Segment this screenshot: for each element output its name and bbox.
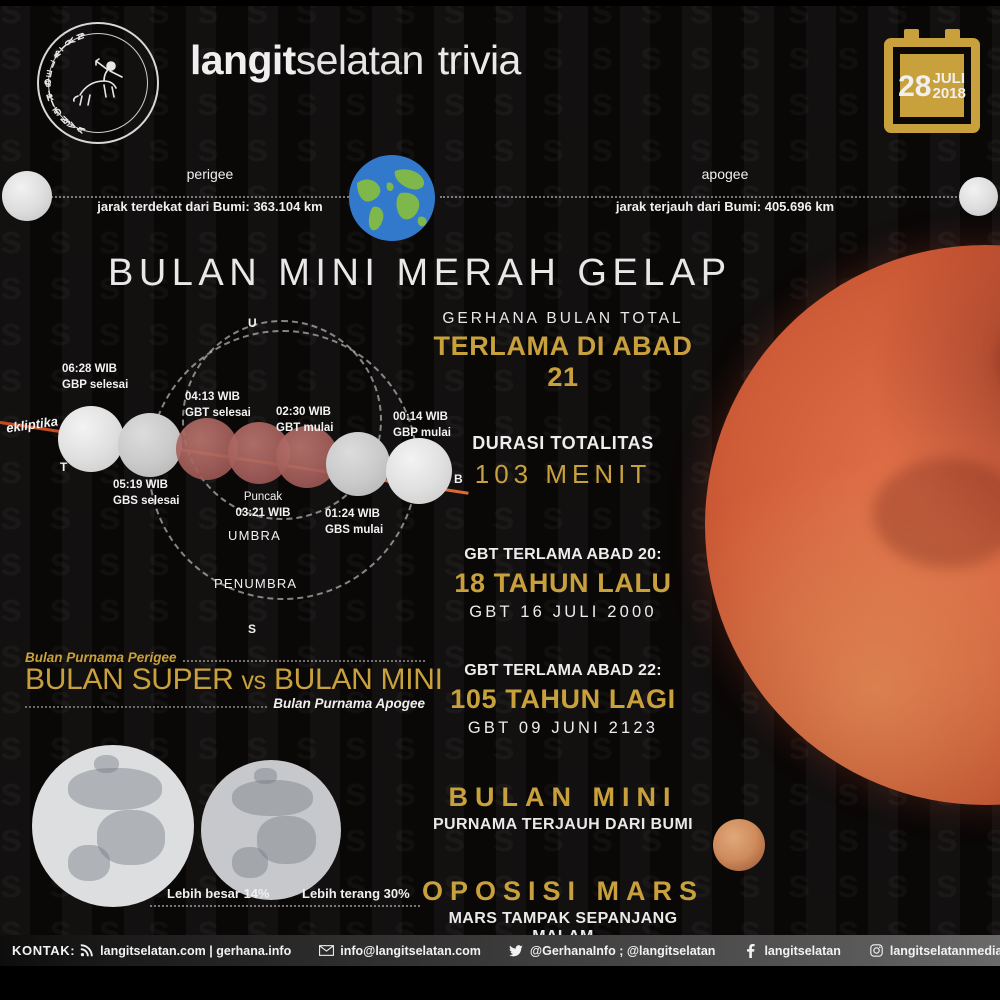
facebook-icon — [743, 943, 758, 958]
label-gbp-selesai-time: 06:28 WIB — [62, 362, 128, 378]
perigee-distance: jarak terdekat dari Bumi: 363.104 km — [85, 199, 335, 214]
perigee-moon-icon — [2, 171, 52, 221]
footer-item-facebook[interactable]: langitselatan — [743, 943, 840, 958]
label-puncak-time: 03:21 WIB — [228, 506, 298, 522]
stat-longest-eclipse: GERHANA BULAN TOTAL TERLAMA DI ABAD 21 — [418, 310, 708, 393]
label-gbs-selesai-time: 05:19 WIB — [113, 478, 179, 494]
sagittarius-figure-icon — [66, 51, 130, 115]
label-gbs-selesai: 05:19 WIB GBS selesai — [113, 478, 179, 509]
dotted-rule-top — [183, 660, 425, 662]
stat-century-22-main: 105 TAHUN LAGI — [418, 684, 708, 715]
phase-moon-gbs-selesai — [118, 413, 182, 477]
footer-item-website-text: langitselatan.com | gerhana.info — [100, 944, 291, 958]
top-black-strip — [0, 0, 1000, 6]
stat-mini-moon-sub: PURNAMA TERJAUH DARI BUMI — [418, 816, 708, 834]
direction-label-north: U — [248, 316, 257, 330]
label-gbt-mulai: 02:30 WIB GBT mulai — [276, 405, 334, 436]
phase-moon-gbs-mulai — [326, 432, 390, 496]
label-puncak: Puncak 03:21 WIB — [228, 490, 298, 521]
stat-century-22: GBT TERLAMA ABAD 22: 105 TAHUN LAGI GBT … — [418, 662, 708, 738]
super-vs-mini-title: BULAN SUPER vs BULAN MINI — [25, 663, 425, 697]
infographic-page: ssssssssssssssssssssssssssssssssssssssss… — [0, 0, 1000, 1000]
rss-icon — [79, 943, 94, 958]
dotted-rule-bottom — [25, 706, 267, 708]
footer-item-twitter-text: @GerhanaInfo ; @langitselatan — [530, 944, 716, 958]
stat-century-20-main: 18 TAHUN LALU — [418, 568, 708, 599]
mars-illustration — [713, 819, 765, 871]
footer-item-website[interactable]: langitselatan.com | gerhana.info — [79, 943, 291, 958]
calendar-screen: 28 JULI 2018 — [893, 47, 971, 124]
footer-item-twitter[interactable]: @GerhanaInfo ; @langitselatan — [509, 943, 716, 958]
orbit-line-right — [440, 196, 965, 198]
label-gbs-selesai-event: GBS selesai — [113, 494, 179, 510]
footer-item-email-text: info@langitselatan.com — [340, 944, 481, 958]
stat-century-20-sub: GBT 16 JULI 2000 — [418, 603, 708, 622]
footer-item-instagram-text: langitselatanmedia — [890, 944, 1000, 958]
footer-item-facebook-text: langitselatan — [764, 944, 840, 958]
brand-bold: langit — [190, 37, 296, 83]
stats-column: GERHANA BULAN TOTAL TERLAMA DI ABAD 21 D… — [418, 310, 708, 946]
blood-moon-illustration — [705, 245, 1000, 805]
stat-mini-moon-main: BULAN MINI — [418, 782, 708, 813]
ecliptic-label: ekliptika — [5, 413, 59, 435]
stat-mars-opposition-main: OPOSISI MARS — [418, 876, 708, 907]
super-vs-mini-title-vs: vs — [241, 667, 265, 695]
zone-label-penumbra: PENUMBRA — [214, 576, 297, 591]
brand-light: selatan — [296, 37, 424, 83]
label-gbt-selesai: 04:13 WIB GBT selesai — [185, 390, 251, 421]
label-gbs-mulai-time: 01:24 WIB — [325, 507, 383, 523]
mini-moon-illustration — [201, 760, 341, 900]
footer-item-instagram[interactable]: langitselatanmedia — [869, 943, 1000, 958]
brand-trivia: trivia — [438, 37, 521, 83]
envelope-icon — [319, 943, 334, 958]
direction-label-east: T — [60, 460, 67, 474]
label-gbt-selesai-time: 04:13 WIB — [185, 390, 251, 406]
apogee-moon-icon — [959, 177, 998, 216]
label-gbt-mulai-event: GBT mulai — [276, 421, 334, 437]
apogee-distance: jarak terjauh dari Bumi: 405.696 km — [600, 199, 850, 214]
perigee-label: perigee — [110, 166, 310, 182]
super-vs-mini-heading: Bulan Purnama Perigee BULAN SUPER vs BUL… — [25, 650, 425, 711]
stat-duration: DURASI TOTALITAS 103 MENIT — [418, 433, 708, 490]
stat-century-22-sub: GBT 09 JUNI 2123 — [418, 719, 708, 738]
stat-duration-top: DURASI TOTALITAS — [418, 433, 708, 454]
label-gbt-selesai-event: GBT selesai — [185, 406, 251, 422]
calendar-year: 2018 — [933, 87, 966, 101]
label-puncak-text: Puncak — [228, 490, 298, 506]
calendar-day: 28 — [898, 74, 931, 100]
date-badge: 28 JULI 2018 — [884, 29, 980, 133]
caption-brightness-difference: Lebih terang 30% — [302, 886, 410, 901]
instagram-icon — [869, 943, 884, 958]
direction-label-south: S — [248, 622, 256, 636]
stat-century-22-top: GBT TERLAMA ABAD 22: — [418, 662, 708, 680]
phase-moon-gbp-selesai — [58, 406, 124, 472]
stat-century-20-top: GBT TERLAMA ABAD 20: — [418, 546, 708, 564]
caption-dotted-rule — [150, 905, 420, 907]
super-vs-mini-bottom-label: Bulan Purnama Apogee — [273, 696, 425, 711]
label-gbp-selesai: 06:28 WIB GBP selesai — [62, 362, 128, 393]
page-title: langitselatantrivia — [190, 37, 521, 84]
stat-duration-main: 103 MENIT — [418, 459, 708, 490]
langitselatan-logo: LANGITSELATAN ASTRO 101 — [37, 22, 159, 144]
zone-label-umbra: UMBRA — [228, 528, 281, 543]
stat-century-20: GBT TERLAMA ABAD 20: 18 TAHUN LALU GBT 1… — [418, 546, 708, 622]
stat-mini-moon: BULAN MINI PURNAMA TERJAUH DARI BUMI — [418, 782, 708, 834]
stat-longest-eclipse-top: GERHANA BULAN TOTAL — [418, 310, 708, 328]
apogee-label: apogee — [625, 166, 825, 182]
contact-footer: KONTAK: langitselatan.com | gerhana.info… — [0, 935, 1000, 966]
label-gbp-selesai-event: GBP selesai — [62, 378, 128, 394]
eclipse-path-diagram: ekliptika 06:28 WIB GBP selesai 05:19 WI… — [0, 300, 470, 660]
super-vs-mini-bottom-row: Bulan Purnama Apogee — [25, 696, 425, 711]
orbit-line-left — [40, 196, 360, 198]
calendar-body: 28 JULI 2018 — [884, 38, 980, 133]
twitter-icon — [509, 943, 524, 958]
footer-item-email[interactable]: info@langitselatan.com — [319, 943, 481, 958]
caption-size-difference: Lebih besar 14% — [167, 886, 270, 901]
main-headline: BULAN MINI MERAH GELAP — [108, 252, 732, 295]
footer-kontak-label: KONTAK: — [0, 943, 75, 958]
footer-items: langitselatan.com | gerhana.info info@la… — [75, 943, 1000, 958]
label-gbs-mulai-event: GBS mulai — [325, 523, 383, 539]
super-moon-illustration — [32, 745, 194, 907]
label-gbs-mulai: 01:24 WIB GBS mulai — [325, 507, 383, 538]
label-gbt-mulai-time: 02:30 WIB — [276, 405, 334, 421]
super-vs-mini-title-a: BULAN SUPER — [25, 663, 233, 696]
stat-longest-eclipse-main: TERLAMA DI ABAD 21 — [418, 331, 708, 393]
footer-black-strip — [0, 966, 1000, 1000]
earth-globe-icon — [349, 155, 435, 241]
